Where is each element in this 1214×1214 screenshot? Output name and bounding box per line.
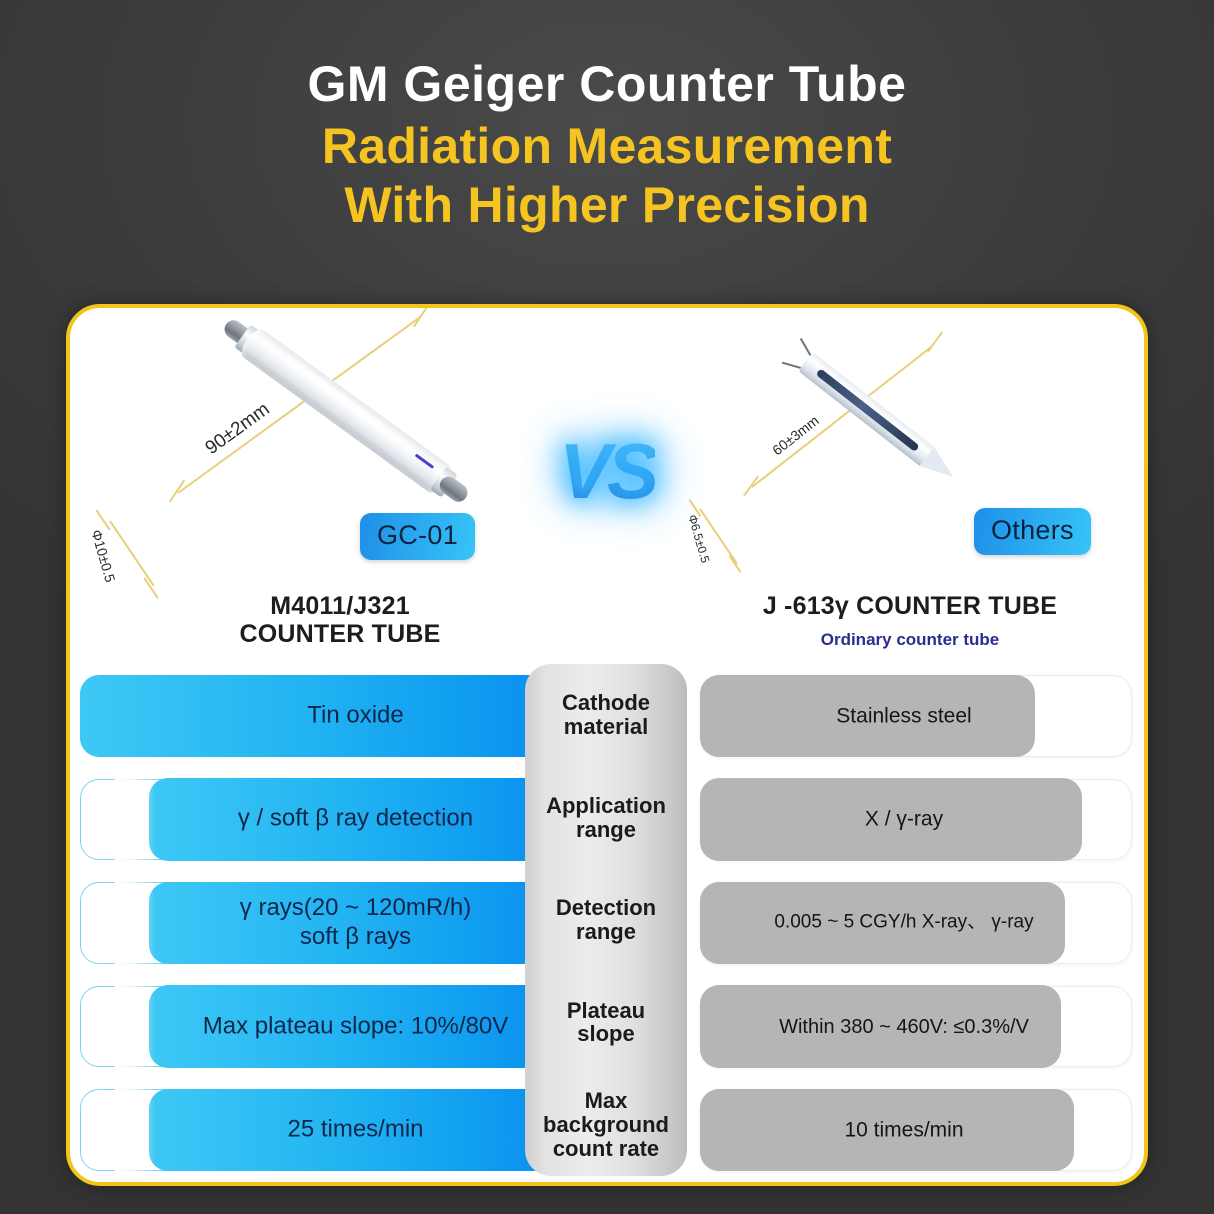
product-name-left-line2: COUNTER TUBE: [80, 620, 600, 648]
attribute-label-line2: slope: [567, 1022, 645, 1046]
right-value-bar: Within 380 ~ 460V: ≤0.3%/V: [700, 986, 1132, 1068]
product-badge-gc01: GC-01: [360, 513, 475, 560]
attribute-label-line2: range: [556, 920, 656, 944]
left-value-text: Max plateau slope: 10%/80V: [133, 1012, 578, 1041]
left-value-text-line2: soft β rays: [133, 923, 578, 952]
length-tick-end-right: [927, 332, 943, 353]
attribute-label-line1: Detection: [556, 896, 656, 920]
right-value-bar: 0.005 ~ 5 CGY/h X-ray、 γ-ray: [700, 882, 1132, 964]
attribute-label: Cathode material: [525, 664, 687, 766]
left-value-bar: Tin oxide: [80, 675, 589, 757]
subtitle-line-1: Radiation Measurement: [0, 117, 1214, 176]
attribute-label: Max background count rate: [525, 1074, 687, 1176]
right-value-bar: 10 times/min: [700, 1089, 1132, 1171]
comparison-table: Tin oxide Stainless steel γ / soft β ray…: [70, 664, 1144, 1182]
attribute-label-line1: Cathode: [562, 691, 650, 715]
length-tick-end-left: [413, 305, 429, 328]
left-value-bar: γ / soft β ray detection: [80, 779, 589, 861]
attribute-label-line3: count rate: [543, 1137, 669, 1161]
page-subtitle: Radiation Measurement With Higher Precis…: [0, 117, 1214, 235]
vs-badge: VS: [559, 426, 655, 517]
page-title: GM Geiger Counter Tube: [0, 58, 1214, 111]
left-value-text: Tin oxide: [133, 701, 578, 730]
product-subtitle-right: Ordinary counter tube: [690, 630, 1130, 650]
left-value-text: 25 times/min: [133, 1116, 578, 1145]
product-badge-others: Others: [974, 508, 1091, 555]
others-tube-graphic: [779, 337, 961, 486]
subtitle-line-2: With Higher Precision: [0, 176, 1214, 235]
length-dimension-line-left: [177, 316, 421, 494]
attribute-column: Cathode material Application range Detec…: [525, 664, 687, 1176]
attribute-label-line1: Max: [543, 1089, 669, 1113]
tube-highlight: [254, 334, 424, 460]
right-value-bar: Stainless steel: [700, 675, 1132, 757]
tube-electrode: [816, 368, 920, 452]
diameter-label-left: Φ10±0.5: [88, 528, 118, 584]
length-dimension-line-right: [751, 346, 932, 488]
attribute-label-line1: Application: [546, 794, 666, 818]
left-value-bar: 25 times/min: [80, 1089, 589, 1171]
length-tick-start-left: [169, 480, 185, 503]
attribute-label-line1: Plateau: [567, 999, 645, 1023]
attribute-label-line2: material: [562, 715, 650, 739]
right-value-bar: X / γ-ray: [700, 779, 1132, 861]
left-value-bar: Max plateau slope: 10%/80V: [80, 986, 589, 1068]
product-left: 90±2mm Φ10±0.5 GC-01 M4011/J3: [80, 308, 600, 668]
right-value-text: 10 times/min: [707, 1118, 1101, 1143]
right-value-text: 0.005 ~ 5 CGY/h X-ray、 γ-ray: [707, 912, 1101, 935]
product-name-right: J -613γ COUNTER TUBE: [690, 592, 1130, 620]
product-name-left: M4011/J321 COUNTER TUBE: [80, 592, 600, 648]
attribute-label-line2: range: [546, 818, 666, 842]
left-value-text: γ rays(20 ~ 120mR/h) soft β rays: [133, 894, 578, 952]
right-value-text: Stainless steel: [707, 703, 1101, 728]
product-showcase: VS 90±2mm Φ10±0.5: [70, 308, 1144, 668]
product-name-left-line1: M4011/J321: [80, 592, 600, 620]
content-card: VS 90±2mm Φ10±0.5: [66, 304, 1148, 1186]
attribute-label: Plateau slope: [525, 971, 687, 1073]
right-value-text: Within 380 ~ 460V: ≤0.3%/V: [707, 1015, 1101, 1039]
diameter-tick-end-right: [729, 555, 742, 573]
left-value-text-line1: γ rays(20 ~ 120mR/h): [133, 894, 578, 923]
product-right: 60±3mm Φ6.5±0.5 Others J -613γ COUNTER T…: [690, 308, 1130, 668]
right-value-text: X / γ-ray: [707, 807, 1101, 832]
page-header: GM Geiger Counter Tube Radiation Measure…: [0, 0, 1214, 235]
attribute-label: Detection range: [525, 869, 687, 971]
length-tick-start-right: [743, 476, 759, 497]
left-value-text: γ / soft β ray detection: [133, 805, 578, 834]
attribute-label: Application range: [525, 766, 687, 868]
left-value-bar: γ rays(20 ~ 120mR/h) soft β rays: [80, 882, 589, 964]
attribute-label-line2: background: [543, 1113, 669, 1137]
